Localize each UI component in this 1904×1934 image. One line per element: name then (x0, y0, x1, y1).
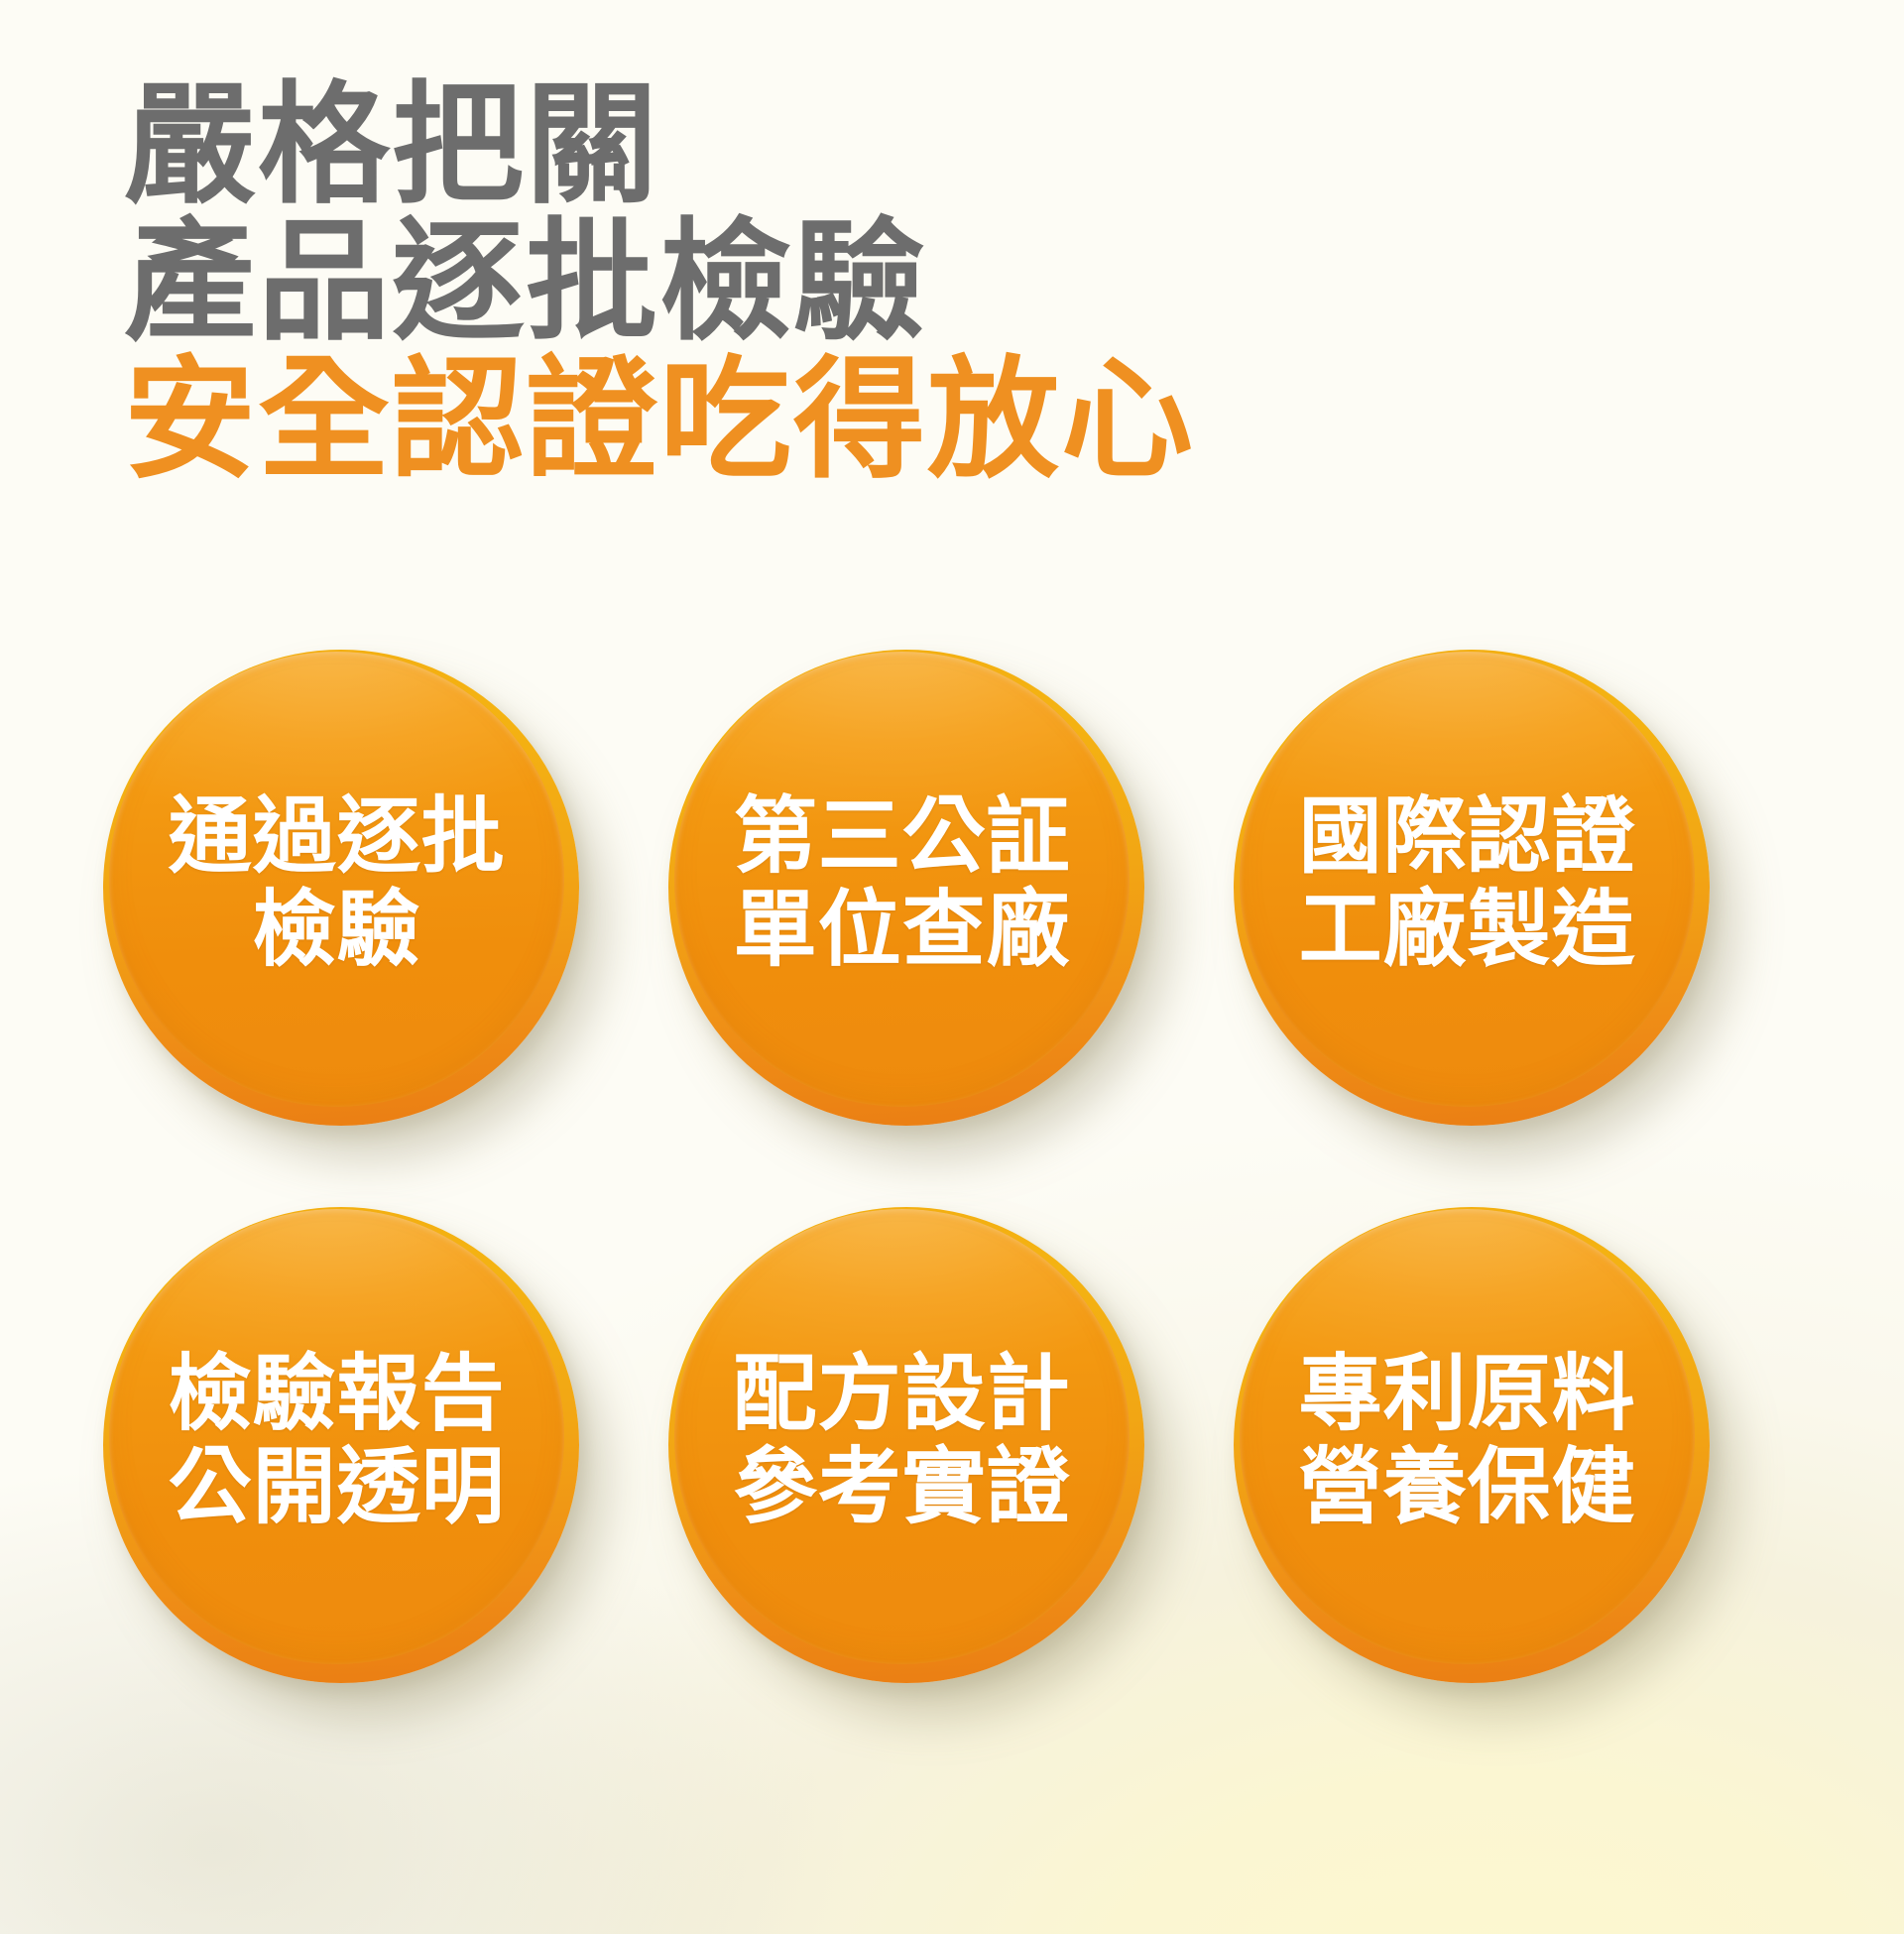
badge-label-line-1: 檢驗報告 (169, 1347, 506, 1440)
badge-patented-ingredient[interactable]: 專利原料 營養保健 (1234, 1207, 1710, 1683)
badge-disc: 國際認證 工廠製造 (1234, 650, 1710, 1126)
badge-disc: 配方設計 參考實證 (668, 1207, 1144, 1683)
badge-formula-evidence[interactable]: 配方設計 參考實證 (668, 1207, 1144, 1683)
badge-label-line-2: 參考實證 (734, 1440, 1071, 1533)
badge-face: 第三公証 單位查廠 (674, 652, 1130, 1107)
badge-label-line-1: 通過逐批 (169, 789, 506, 883)
badge-label-line-2: 公開透明 (169, 1440, 506, 1533)
headline-line-1: 嚴格把關 (124, 77, 1195, 214)
badge-face: 國際認證 工廠製造 (1240, 652, 1695, 1107)
badge-disc: 專利原料 營養保健 (1234, 1207, 1710, 1683)
badge-disc: 檢驗報告 公開透明 (103, 1207, 579, 1683)
badge-label-line-1: 國際認證 (1299, 789, 1636, 883)
headline-line-2: 產品逐批檢驗 (124, 214, 1195, 351)
badge-label-line-2: 檢驗 (253, 883, 421, 976)
badge-disc: 第三公証 單位查廠 (668, 650, 1144, 1126)
badge-label-line-2: 工廠製造 (1299, 883, 1636, 976)
headline-block: 嚴格把關 產品逐批檢驗 安全認證吃得放心 (124, 77, 1195, 489)
badge-face: 通過逐批 檢驗 (109, 652, 564, 1107)
badge-label-line-1: 專利原料 (1299, 1347, 1636, 1440)
badge-face: 檢驗報告 公開透明 (109, 1209, 564, 1664)
badge-grid: 通過逐批 檢驗 第三公証 單位查廠 國際認證 工廠製造 (103, 650, 1814, 1683)
badge-label-line-2: 單位查廠 (734, 883, 1071, 976)
promo-poster: 嚴格把關 產品逐批檢驗 安全認證吃得放心 通過逐批 檢驗 第三公証 單位查廠 (0, 0, 1904, 1934)
badge-label-line-1: 第三公証 (734, 789, 1071, 883)
badge-third-party-audit[interactable]: 第三公証 單位查廠 (668, 650, 1144, 1126)
headline-line-3: 安全認證吃得放心 (124, 352, 1195, 489)
badge-transparent-report[interactable]: 檢驗報告 公開透明 (103, 1207, 579, 1683)
badge-batch-inspection[interactable]: 通過逐批 檢驗 (103, 650, 579, 1126)
badge-face: 配方設計 參考實證 (674, 1209, 1130, 1664)
badge-face: 專利原料 營養保健 (1240, 1209, 1695, 1664)
badge-label-line-1: 配方設計 (734, 1347, 1071, 1440)
badge-label-line-2: 營養保健 (1299, 1440, 1636, 1533)
badge-disc: 通過逐批 檢驗 (103, 650, 579, 1126)
badge-international-factory[interactable]: 國際認證 工廠製造 (1234, 650, 1710, 1126)
